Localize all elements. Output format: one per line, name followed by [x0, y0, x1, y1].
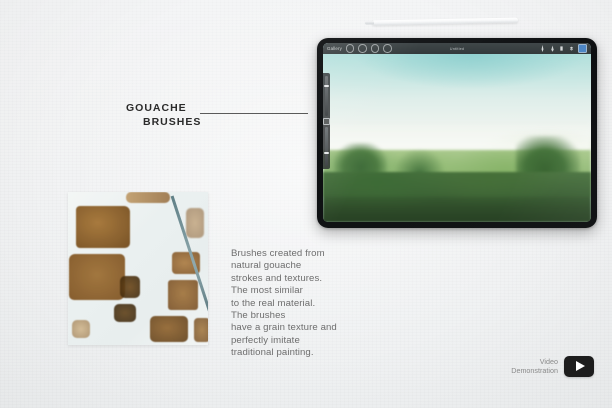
video-demonstration-link[interactable]: Video Demonstration	[498, 352, 594, 380]
tool-sidebar[interactable]	[323, 73, 330, 169]
description-line: traditional painting.	[231, 347, 376, 359]
title-line-2: BRUSHES	[126, 115, 311, 129]
brush-size-slider[interactable]	[325, 76, 327, 116]
video-label: Video Demonstration	[511, 357, 558, 375]
eraser-icon[interactable]	[559, 45, 564, 53]
app-toolbar: Gallery Untitled	[323, 43, 591, 54]
opacity-knob[interactable]	[324, 152, 329, 154]
brush-icon[interactable]	[540, 45, 545, 53]
description-line: have a grain texture and	[231, 322, 376, 334]
toolbar-right-group	[540, 44, 587, 53]
paint-blob	[114, 304, 136, 322]
artwork-foreground-shadow	[323, 197, 591, 222]
paint-swatch-photo	[68, 192, 208, 345]
description-line: Brushes created from	[231, 248, 376, 260]
selection-icon[interactable]	[371, 44, 380, 53]
gallery-button[interactable]: Gallery	[327, 46, 342, 51]
description-line: to the real material.	[231, 298, 376, 310]
paint-blob	[186, 208, 204, 238]
tablet-screen[interactable]: Gallery Untitled	[323, 43, 591, 222]
title-rule-divider	[200, 113, 308, 114]
paint-blob	[168, 280, 198, 310]
adjustments-icon[interactable]	[346, 44, 355, 53]
description-line: The most similar	[231, 285, 376, 297]
paint-blob	[69, 254, 125, 300]
color-swatch-button[interactable]	[578, 44, 587, 53]
paint-blob	[126, 192, 170, 203]
description-line: The brushes	[231, 310, 376, 322]
opacity-slider[interactable]	[325, 127, 327, 167]
description-text: Brushes created from natural gouache str…	[231, 248, 376, 360]
brush-size-knob[interactable]	[324, 85, 329, 87]
video-label-line-2: Demonstration	[511, 366, 558, 375]
smudge-icon[interactable]	[358, 44, 367, 53]
smudge-tool-icon[interactable]	[550, 45, 555, 53]
play-icon	[576, 361, 585, 371]
page-title: GOUACHE BRUSHES	[126, 101, 311, 129]
toolbar-left-group: Gallery	[327, 44, 392, 53]
paint-blob	[194, 318, 208, 342]
transform-icon[interactable]	[383, 44, 392, 53]
layers-icon[interactable]	[569, 45, 574, 53]
description-line: perfectly imitate	[231, 335, 376, 347]
paint-blob	[76, 206, 130, 248]
drawing-tablet: Gallery Untitled	[317, 38, 597, 228]
play-button[interactable]	[564, 356, 594, 377]
paint-blob	[120, 276, 140, 298]
paint-blob	[72, 320, 90, 338]
document-title: Untitled	[450, 47, 464, 51]
stylus-tip	[365, 21, 374, 25]
description-line: natural gouache	[231, 260, 376, 272]
modify-button[interactable]	[323, 118, 330, 125]
description-line: strokes and textures.	[231, 273, 376, 285]
video-label-line-1: Video	[511, 357, 558, 366]
paint-blob	[150, 316, 188, 342]
